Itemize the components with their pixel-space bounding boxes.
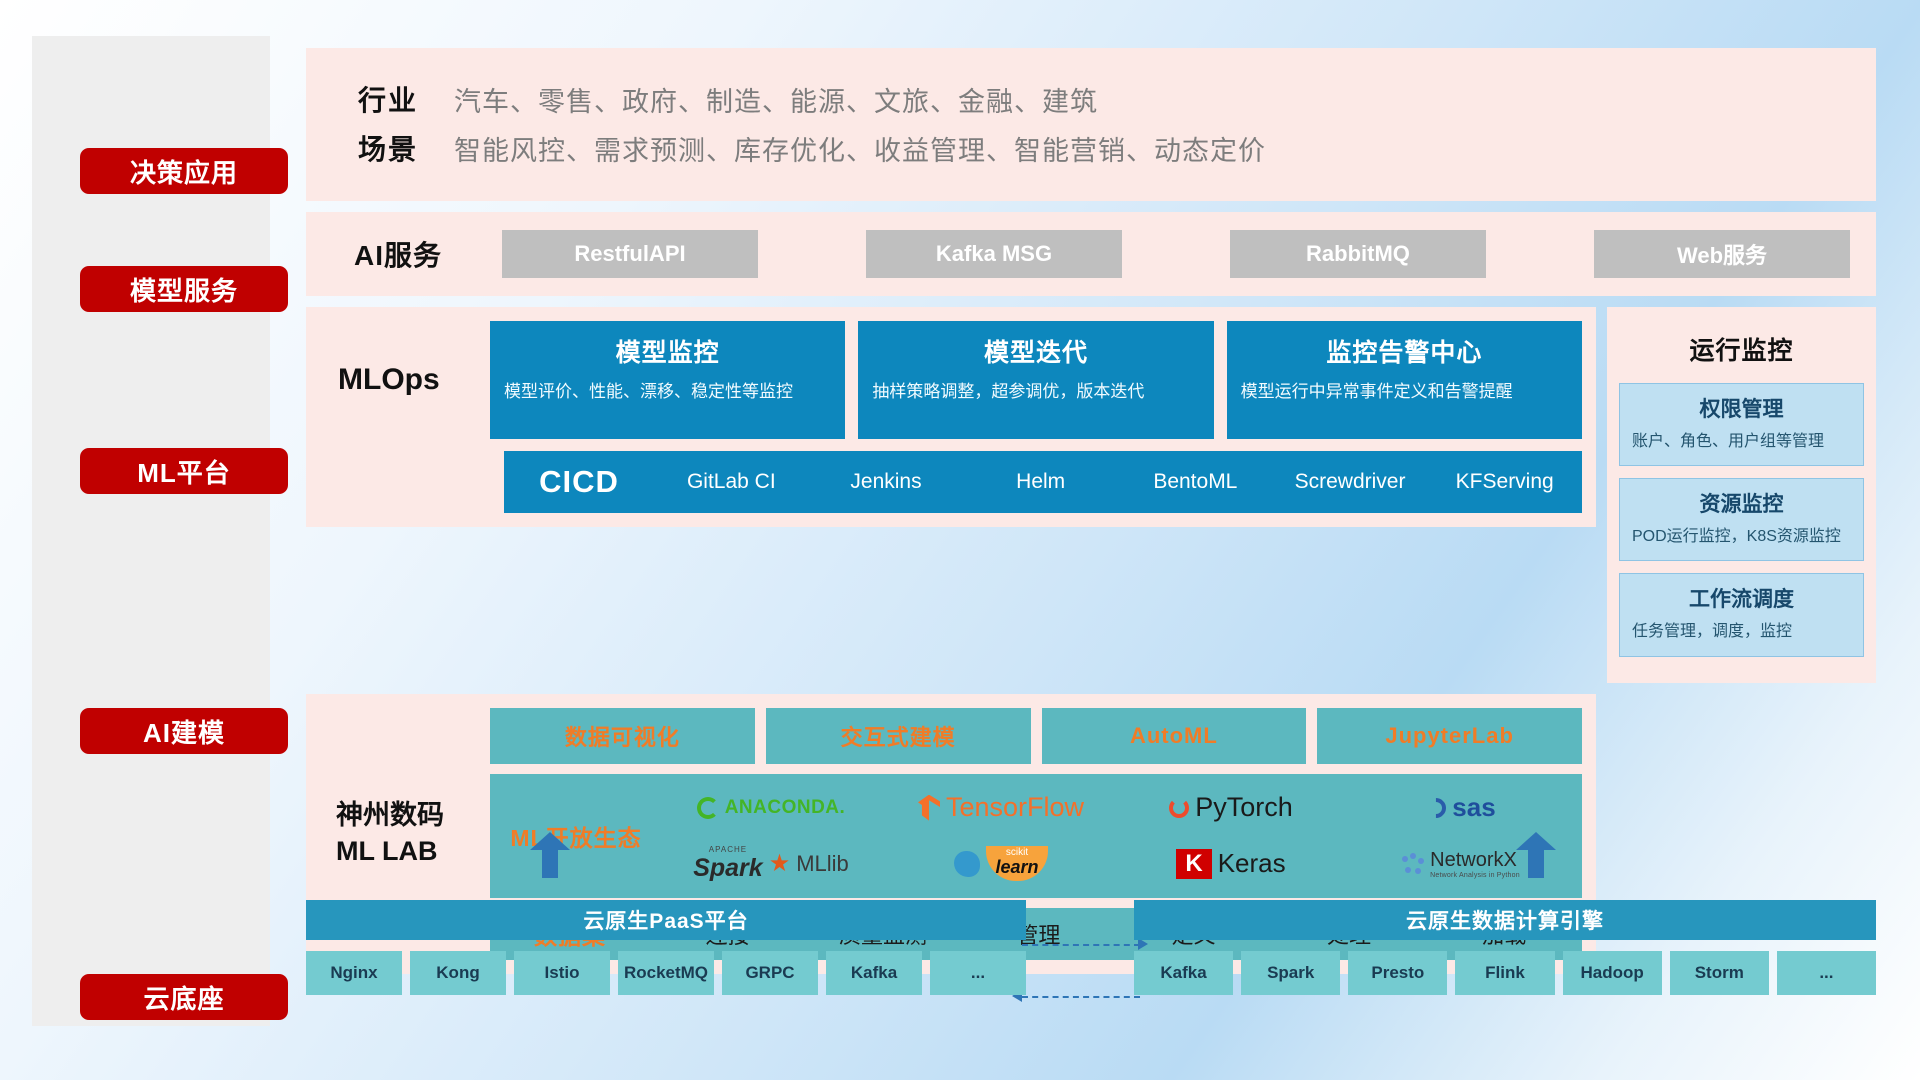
mlops-section: MLOps 模型监控 模型评价、性能、漂移、稳定性等监控 模型迭代 抽样策略调整…: [306, 307, 1596, 683]
keras-k-icon: K: [1176, 849, 1211, 879]
chip-kafka[interactable]: Kafka: [826, 951, 922, 995]
mllab-key-line2: ML LAB: [336, 834, 490, 869]
cicd-title: CICD: [504, 464, 654, 500]
scikit-blob-icon: [954, 851, 980, 877]
pytorch-logo: PyTorch: [1169, 783, 1293, 833]
mlops-card-desc: 抽样策略调整，超参调优，版本迭代: [872, 380, 1199, 405]
scenario-row: 场景 智能风控、需求预测、库存优化、收益管理、智能营销、动态定价: [332, 128, 1850, 168]
mllab-eco-label: ML开放生态: [496, 819, 656, 853]
cicd-item-screwdriver[interactable]: Screwdriver: [1273, 468, 1428, 496]
industry-scenario-band: 行业 汽车、零售、政府、制造、能源、文旅、金融、建筑 场景 智能风控、需求预测、…: [306, 48, 1876, 201]
ai-service-band: AI服务 RestfulAPI Kafka MSG RabbitMQ Web服务: [306, 212, 1876, 296]
cloud-foundation: 云原生PaaS平台 Nginx Kong Istio RocketMQ GRPC…: [306, 880, 1876, 1040]
networkx-graph-icon: [1402, 853, 1424, 875]
cicd-row: CICD GitLab CI Jenkins Helm BentoML Scre…: [504, 451, 1582, 513]
mllab-key: 神州数码 ML LAB: [320, 798, 490, 868]
monitor-title: 运行监控: [1619, 321, 1864, 383]
industry-value: 汽车、零售、政府、制造、能源、文旅、金融、建筑: [454, 80, 1098, 119]
up-arrow-paas: [530, 832, 570, 878]
mlops-card-desc: 模型评价、性能、漂移、稳定性等监控: [504, 380, 831, 405]
cloud-compute-chips: Kafka Spark Presto Flink Hadoop Storm ..…: [1134, 951, 1876, 995]
anaconda-ring-icon: [697, 797, 719, 819]
mlops-card-title: 模型迭代: [872, 333, 1199, 369]
cloud-compute-title: 云原生数据计算引擎: [1134, 900, 1876, 940]
rail-label-cloud-base[interactable]: 云底座: [80, 974, 288, 1020]
pytorch-label: PyTorch: [1195, 792, 1293, 823]
chip-nginx[interactable]: Nginx: [306, 951, 402, 995]
industry-key: 行业: [332, 79, 454, 119]
architecture-diagram: 决策应用 模型服务 ML平台 AI建模 云底座 行业 汽车、零售、政府、制造、能…: [0, 0, 1920, 1080]
mlops-card-model-monitoring[interactable]: 模型监控 模型评价、性能、漂移、稳定性等监控: [490, 321, 845, 439]
sas-label: sas: [1452, 792, 1495, 823]
mllab-tool-interactive-modeling[interactable]: 交互式建模: [766, 708, 1031, 764]
chip-spark[interactable]: Spark: [1241, 951, 1340, 995]
service-box-restfulapi[interactable]: RestfulAPI: [502, 230, 758, 278]
monitor-card-title: 权限管理: [1632, 393, 1851, 423]
chip-grpc[interactable]: GRPC: [722, 951, 818, 995]
cloud-paas-title: 云原生PaaS平台: [306, 900, 1026, 940]
mlops-card-model-iteration[interactable]: 模型迭代 抽样策略调整，超参调优，版本迭代: [858, 321, 1213, 439]
monitor-card-desc: POD运行监控，K8S资源监控: [1632, 525, 1851, 548]
cicd-item-bentoml[interactable]: BentoML: [1118, 468, 1273, 496]
cloud-compute-column: 云原生数据计算引擎 Kafka Spark Presto Flink Hadoo…: [1134, 900, 1876, 995]
cicd-item-gitlab-ci[interactable]: GitLab CI: [654, 468, 809, 496]
tensorflow-label: TensorFlow: [946, 792, 1084, 823]
service-box-rabbitmq[interactable]: RabbitMQ: [1230, 230, 1486, 278]
pytorch-flame-icon: [1169, 798, 1189, 818]
cicd-item-jenkins[interactable]: Jenkins: [809, 468, 964, 496]
cicd-band: CICD GitLab CI Jenkins Helm BentoML Scre…: [306, 451, 1596, 527]
mlops-card-title: 监控告警中心: [1241, 333, 1568, 369]
mllab-ecosystem: ML开放生态 ANACONDA. APACHE Spark: [490, 774, 1582, 898]
networkx-label: NetworkX: [1430, 849, 1517, 871]
cloud-paas-chips: Nginx Kong Istio RocketMQ GRPC Kafka ...: [306, 951, 1026, 995]
ai-service-items: RestfulAPI Kafka MSG RabbitMQ Web服务: [502, 230, 1850, 278]
monitor-card-workflow[interactable]: 工作流调度 任务管理，调度，监控: [1619, 573, 1864, 656]
keras-label: Keras: [1218, 848, 1286, 879]
mlops-card-desc: 模型运行中异常事件定义和告警提醒: [1241, 380, 1568, 405]
chip-kafka-right[interactable]: Kafka: [1134, 951, 1233, 995]
mllab-tool-data-visualization[interactable]: 数据可视化: [490, 708, 755, 764]
spark-wordmark: APACHE Spark: [693, 845, 762, 883]
anaconda-label: ANACONDA.: [725, 797, 846, 819]
mllab-tool-automl[interactable]: AutoML: [1042, 708, 1307, 764]
rail-label-ml-platform[interactable]: ML平台: [80, 448, 288, 494]
chip-hadoop[interactable]: Hadoop: [1563, 951, 1662, 995]
tensorflow-logo: TensorFlow: [918, 783, 1084, 833]
layer-rail: 决策应用 模型服务 ML平台 AI建模 云底座: [32, 36, 270, 1026]
mlops-card-alert-center[interactable]: 监控告警中心 模型运行中异常事件定义和告警提醒: [1227, 321, 1582, 439]
monitor-card-resource[interactable]: 资源监控 POD运行监控，K8S资源监控: [1619, 478, 1864, 561]
up-arrow-compute-engine: [1516, 832, 1556, 878]
mlops-cards: 模型监控 模型评价、性能、漂移、稳定性等监控 模型迭代 抽样策略调整，超参调优，…: [490, 321, 1582, 439]
mllib-label: MLlib: [796, 851, 849, 877]
ai-service-key: AI服务: [332, 234, 502, 274]
chip-storm[interactable]: Storm: [1670, 951, 1769, 995]
chip-presto[interactable]: Presto: [1348, 951, 1447, 995]
chip-more-left[interactable]: ...: [930, 951, 1026, 995]
tensorflow-mark-icon: [918, 795, 940, 821]
anaconda-logo: ANACONDA.: [697, 783, 846, 833]
mllab-key-line1: 神州数码: [336, 798, 490, 833]
service-box-web[interactable]: Web服务: [1594, 230, 1850, 278]
mllab-tools: 数据可视化 交互式建模 AutoML JupyterLab: [490, 708, 1582, 764]
networkx-wordmark: NetworkX Network Analysis in Python: [1430, 849, 1520, 879]
rail-label-decision-app[interactable]: 决策应用: [80, 148, 288, 194]
cicd-item-helm[interactable]: Helm: [963, 468, 1118, 496]
mlops-card-title: 模型监控: [504, 333, 831, 369]
sas-swoosh-icon: [1422, 793, 1450, 821]
monitor-card-desc: 账户、角色、用户组等管理: [1632, 430, 1851, 453]
spark-label: Spark: [693, 854, 762, 882]
chip-kong[interactable]: Kong: [410, 951, 506, 995]
scikit-learn-badge: scikit learn: [986, 846, 1047, 881]
chip-istio[interactable]: Istio: [514, 951, 610, 995]
monitor-card-title: 资源监控: [1632, 488, 1851, 518]
chip-rocketmq[interactable]: RocketMQ: [618, 951, 714, 995]
mllab-logos: ANACONDA. APACHE Spark ★ MLlib: [656, 783, 1576, 889]
logo-col-2: TensorFlow scikit learn: [886, 783, 1116, 889]
logo-col-3: PyTorch K Keras: [1116, 783, 1346, 889]
cicd-item-kfserving[interactable]: KFServing: [1427, 468, 1582, 496]
rail-label-model-service[interactable]: 模型服务: [80, 266, 288, 312]
monitor-column: 运行监控 权限管理 账户、角色、用户组等管理 资源监控 POD运行监控，K8S资…: [1607, 307, 1876, 683]
scenario-key: 场景: [332, 128, 454, 168]
networkx-tagline: Network Analysis in Python: [1430, 872, 1520, 879]
service-box-kafka-msg[interactable]: Kafka MSG: [866, 230, 1122, 278]
mllab-tool-jupyterlab[interactable]: JupyterLab: [1317, 708, 1582, 764]
rail-label-ai-modeling[interactable]: AI建模: [80, 708, 288, 754]
industry-row: 行业 汽车、零售、政府、制造、能源、文旅、金融、建筑: [332, 79, 1850, 119]
cloud-paas-column: 云原生PaaS平台 Nginx Kong Istio RocketMQ GRPC…: [306, 900, 1026, 995]
spark-star-icon: ★: [769, 849, 791, 878]
mlops-key: MLOps: [320, 363, 490, 397]
learn-label: learn: [995, 858, 1038, 876]
sas-logo: sas: [1426, 783, 1495, 833]
monitor-card-title: 工作流调度: [1632, 583, 1851, 613]
logo-col-1: ANACONDA. APACHE Spark ★ MLlib: [656, 783, 886, 889]
scenario-value: 智能风控、需求预测、库存优化、收益管理、智能营销、动态定价: [454, 129, 1266, 168]
chip-flink[interactable]: Flink: [1455, 951, 1554, 995]
chip-more-right[interactable]: ...: [1777, 951, 1876, 995]
mlops-and-monitor: MLOps 模型监控 模型评价、性能、漂移、稳定性等监控 模型迭代 抽样策略调整…: [306, 307, 1876, 683]
mlops-cards-row: MLOps 模型监控 模型评价、性能、漂移、稳定性等监控 模型迭代 抽样策略调整…: [306, 307, 1596, 451]
monitor-card-desc: 任务管理，调度，监控: [1632, 620, 1851, 643]
monitor-card-permission[interactable]: 权限管理 账户、角色、用户组等管理: [1619, 383, 1864, 466]
